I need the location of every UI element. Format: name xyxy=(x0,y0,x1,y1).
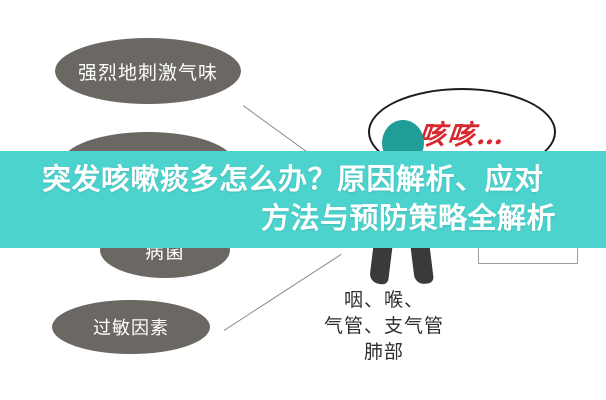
organ-line: 肺部 xyxy=(300,340,468,366)
organ-line: 气管、支气管 xyxy=(300,314,468,340)
organ-list: 咽、喉、 气管、支气管 肺部 xyxy=(300,288,468,367)
cause-label: 强烈地刺激气味 xyxy=(78,58,218,85)
organ-line: 咽、喉、 xyxy=(300,288,468,314)
infographic-canvas: 强烈地刺激气味 寒冷的空气 病菌 过敏因素 咳咳… 干咳 咽、喉、 气管、支气管… xyxy=(0,0,606,400)
title-banner: 突发咳嗽痰多怎么办？原因解析、应对 方法与预防策略全解析 xyxy=(0,151,606,248)
cause-ellipse-strong-odor: 强烈地刺激气味 xyxy=(55,38,241,104)
page-title-line-2: 方法与预防策略全解析 xyxy=(40,200,556,238)
page-title-line-1: 突发咳嗽痰多怎么办？原因解析、应对 xyxy=(42,161,558,199)
cause-ellipse-allergy: 过敏因素 xyxy=(52,300,210,354)
cause-label: 过敏因素 xyxy=(93,314,169,340)
